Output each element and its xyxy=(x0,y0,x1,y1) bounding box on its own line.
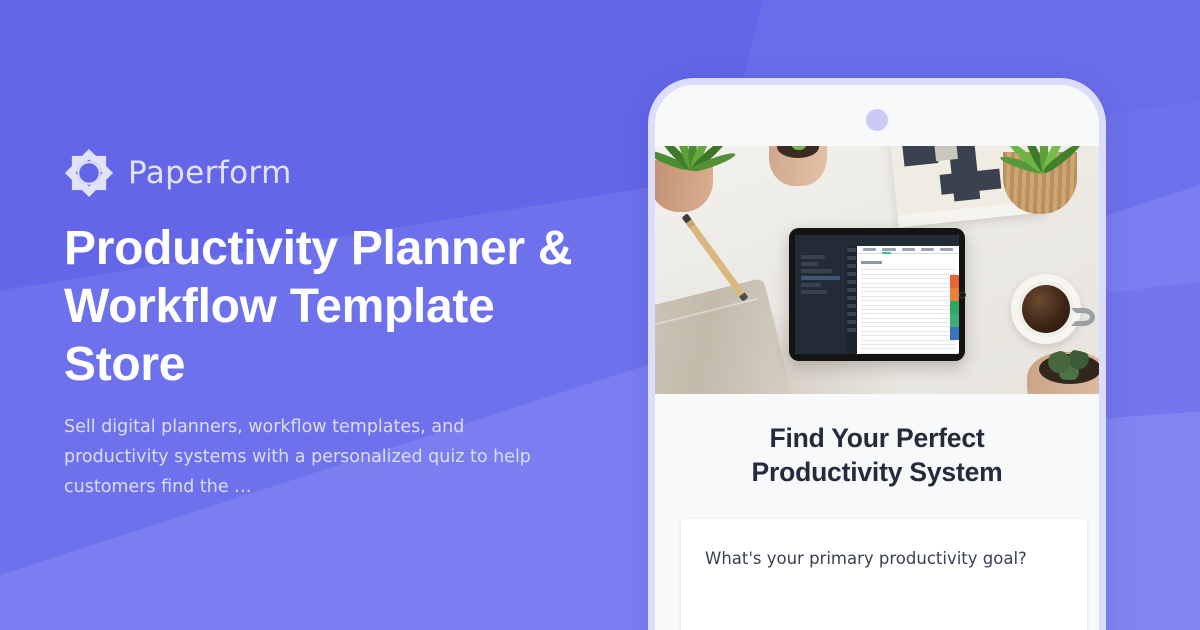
paperform-logo-mark-icon xyxy=(64,147,114,199)
coffee-liquid xyxy=(1022,285,1070,333)
brand-wordmark: Paperform xyxy=(128,155,292,191)
tablet-screen xyxy=(795,235,959,354)
brand-lockup: Paperform xyxy=(64,147,292,199)
page-title: Productivity Planner & Workflow Template… xyxy=(64,220,609,394)
coffee-cup xyxy=(1011,274,1081,344)
tablet-device xyxy=(789,228,965,361)
plant-leaves-top-right xyxy=(995,146,1085,172)
plant-leaves-top-left xyxy=(655,146,731,170)
tablet-tool-rail xyxy=(846,235,857,354)
phone-screen: Find Your Perfect Productivity System Wh… xyxy=(655,85,1099,630)
tablet-spreadsheet xyxy=(857,235,959,354)
form-title: Find Your Perfect Productivity System xyxy=(655,421,1099,489)
front-camera-dot-icon xyxy=(866,109,888,131)
cup-handle xyxy=(1071,308,1095,326)
share-card-canvas: Paperform Productivity Planner & Workflo… xyxy=(0,0,1200,630)
progress-indicator xyxy=(882,252,891,254)
pencil xyxy=(682,213,749,301)
tablet-sidebar xyxy=(795,235,846,354)
question-label: What's your primary productivity goal? xyxy=(705,547,1063,571)
phone-mockup: Find Your Perfect Productivity System Wh… xyxy=(648,78,1106,630)
form-cover-photo xyxy=(655,146,1099,394)
plant-foliage-bottom-right xyxy=(1043,350,1097,380)
tablet-home-button-icon xyxy=(959,291,966,298)
tablet-app-topbar xyxy=(795,235,959,246)
spreadsheet-header-row xyxy=(857,248,959,254)
page-description: Sell digital planners, workflow template… xyxy=(64,412,559,502)
spreadsheet-rows xyxy=(857,254,959,354)
folded-towel xyxy=(655,278,794,394)
question-card: What's your primary productivity goal? xyxy=(681,519,1087,630)
sheet-color-tabs xyxy=(950,275,959,340)
hero-text-column: Paperform Productivity Planner & Workflo… xyxy=(64,0,624,630)
